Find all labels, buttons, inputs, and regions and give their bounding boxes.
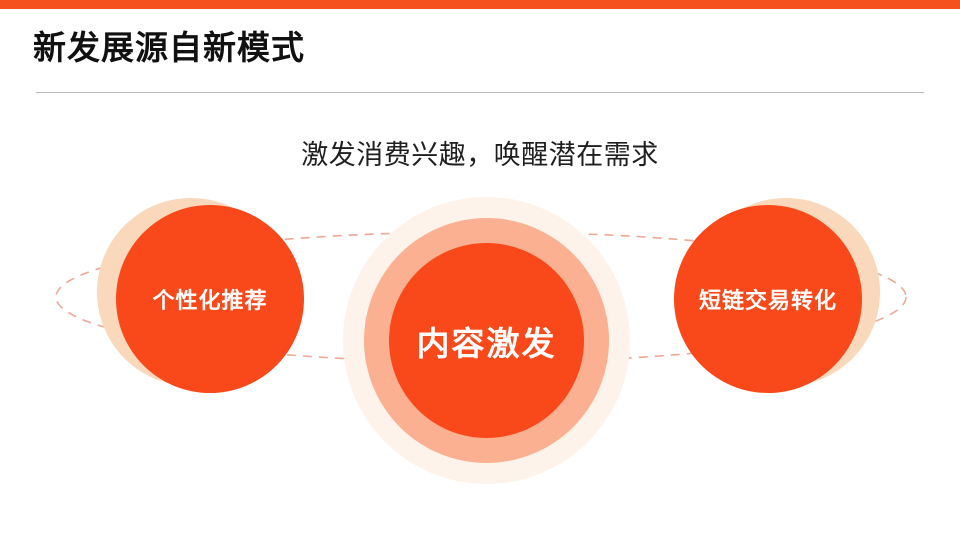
node-left-disc[interactable]: 个性化推荐: [116, 205, 304, 393]
node-right-label: 短链交易转化: [699, 283, 837, 315]
node-center-label: 内容激发: [417, 317, 557, 365]
title-divider: [36, 92, 924, 93]
slide-canvas: 新发展源自新模式 激发消费兴趣，唤醒潜在需求 个性化推荐 内容激发 短链交易转化: [0, 0, 960, 540]
top-accent-bar: [0, 0, 960, 9]
node-center-disc[interactable]: 内容激发: [389, 243, 584, 438]
node-right-disc[interactable]: 短链交易转化: [674, 205, 862, 393]
concept-diagram: 个性化推荐 内容激发 短链交易转化: [0, 150, 960, 540]
page-title: 新发展源自新模式: [33, 26, 305, 70]
node-left-label: 个性化推荐: [152, 283, 267, 315]
